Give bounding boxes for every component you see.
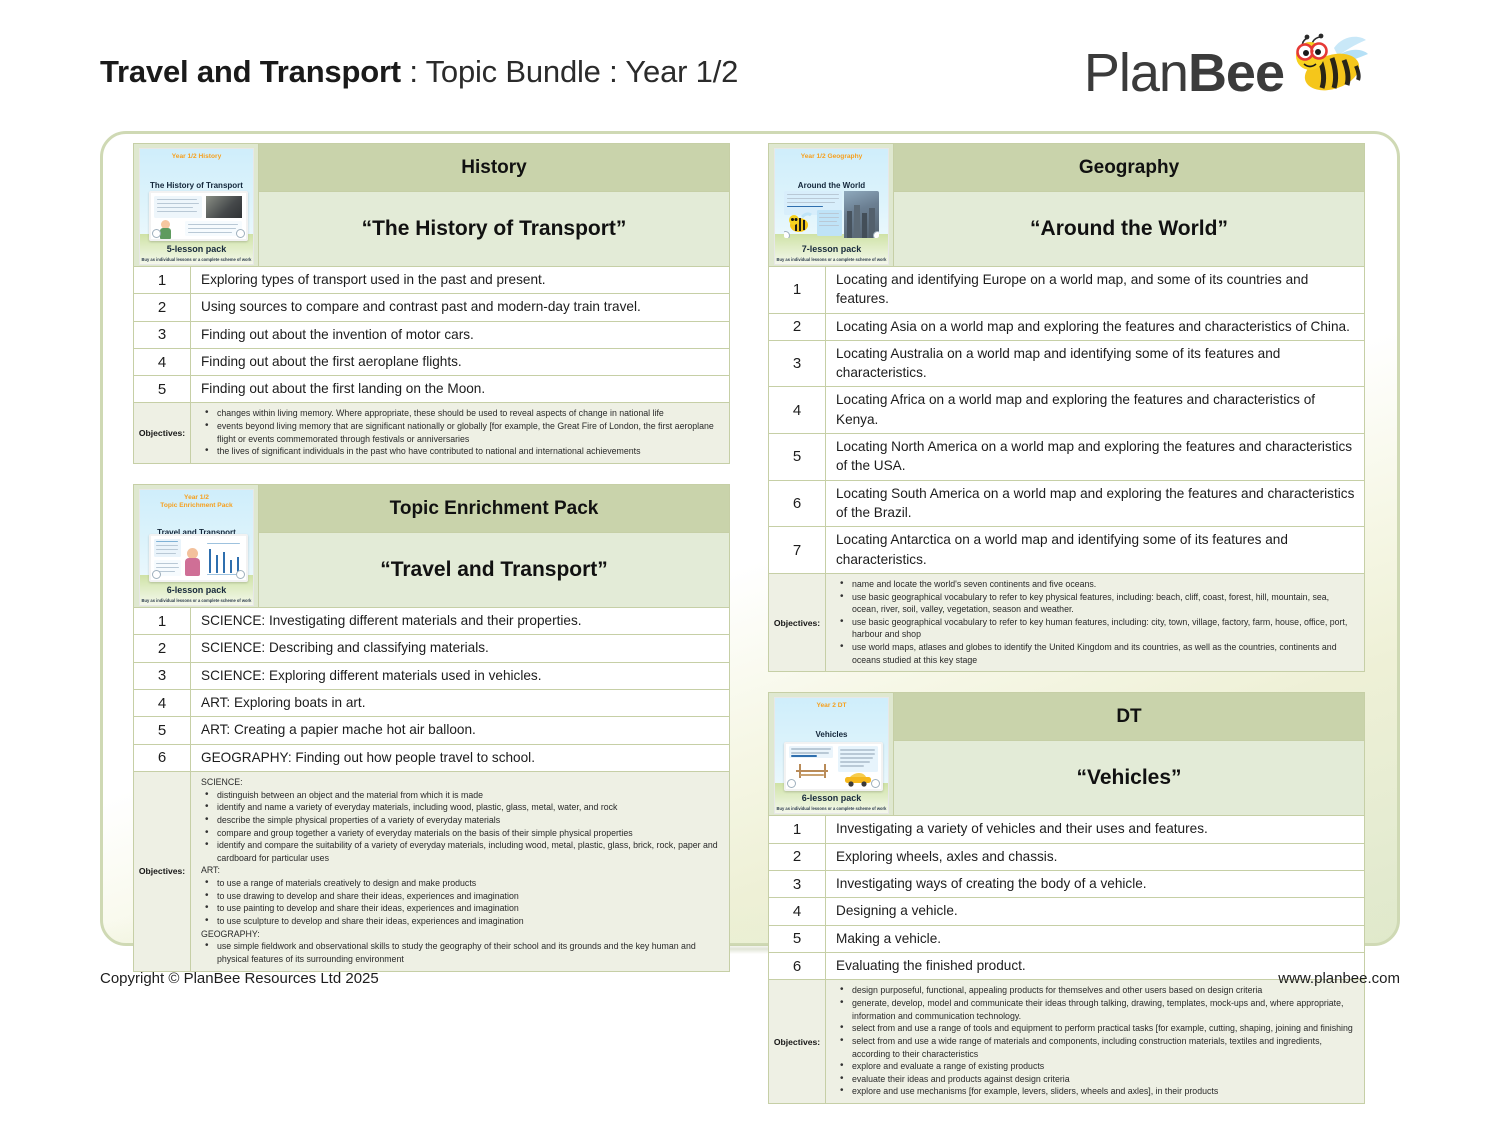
objectives-row-geography: Objectives:name and locate the world's s… [768,574,1365,673]
left-column: Year 1/2 History The History of Transpor… [133,143,730,992]
objective-item: to use painting to develop and share the… [215,902,720,915]
objective-item: identify and compare the suitability of … [215,839,720,864]
lesson-description: Finding out about the first aeroplane fl… [191,349,729,375]
lesson-number: 1 [134,267,191,293]
lesson-number: 4 [134,690,191,716]
objective-item: explore and use mechanisms [for example,… [850,1085,1355,1098]
thumbnail-year-label: Year 1/2 Geography [775,153,888,161]
thumb-slide-history [149,191,248,241]
pack-block-geography: Year 1/2 Geography Around the World [768,143,1365,672]
objective-item: use world maps, atlases and globes to id… [850,641,1355,666]
page-title-suffix: : Topic Bundle : Year 1/2 [401,54,738,89]
lesson-number: 4 [769,898,826,924]
car-icon [844,772,872,787]
lesson-number: 1 [769,267,826,313]
thumb-slide-geography [784,191,879,238]
objectives-label: Objectives: [769,574,826,672]
website-link[interactable]: www.planbee.com [1278,970,1400,987]
objectives-list: distinguish between an object and the ma… [201,789,720,865]
thumbnail-pack-count: 7-lesson pack [775,244,888,254]
lesson-description: Finding out about the invention of motor… [191,322,729,348]
thumbnail-cell[interactable]: Year 1/2Topic Enrichment Pack Travel and… [134,485,259,607]
thumbnail-cell[interactable]: Year 1/2 History The History of Transpor… [134,144,259,266]
lesson-row: 4Finding out about the first aeroplane f… [133,349,730,376]
objective-item: distinguish between an object and the ma… [215,789,720,802]
objectives-content: changes within living memory. Where appr… [191,403,729,463]
objectives-row-history: Objectives:changes within living memory.… [133,403,730,464]
lesson-number: 6 [134,745,191,771]
copyright-text: Copyright © PlanBee Resources Ltd 2025 [100,970,379,987]
unit-title-dt: “Vehicles” [894,740,1364,815]
thumbnail-unit-name: Around the World [775,181,888,190]
unit-title-history: “The History of Transport” [259,191,729,266]
objectives-list: to use a range of materials creatively t… [201,877,720,928]
bee-thumb-icon [786,211,814,237]
lesson-description: Locating Antarctica on a world map and i… [826,527,1364,573]
thumbnail-unit-name: Vehicles [775,730,888,739]
lesson-number: 5 [769,434,826,480]
objective-item: the lives of significant individuals in … [215,445,720,458]
logo-bee-text: Bee [1188,43,1284,103]
objective-item: identify and name a variety of everyday … [215,801,720,814]
lesson-description: ART: Exploring boats in art. [191,690,729,716]
lesson-description: ART: Creating a papier mache hot air bal… [191,717,729,743]
subject-label-topic-enrichment-pack: Topic Enrichment Pack [259,485,729,532]
lesson-number: 7 [769,527,826,573]
objectives-list: name and locate the world's seven contin… [836,578,1355,667]
thumbnail-cell[interactable]: Year 2 DT Vehicles [769,693,894,815]
thumbnail-pack-count: 6-lesson pack [140,585,253,595]
lesson-number: 3 [134,322,191,348]
lesson-row: 4Locating Africa on a world map and expl… [768,387,1365,434]
objectives-label: Objectives: [134,772,191,971]
lesson-row: 5Finding out about the first landing on … [133,376,730,403]
pack-block-dt: Year 2 DT Vehicles [768,692,1365,1104]
lesson-number: 4 [769,387,826,433]
objective-item: select from and use a range of tools and… [850,1022,1355,1035]
subject-label-dt: DT [894,693,1364,740]
objective-item: compare and group together a variety of … [215,827,720,840]
lesson-description: Locating Africa on a world map and explo… [826,387,1364,433]
objective-item: to use drawing to develop and share thei… [215,890,720,903]
page-header: Travel and Transport : Topic Bundle : Ye… [0,0,1500,130]
lesson-row: 1Locating and identifying Europe on a wo… [768,267,1365,314]
lesson-row: 5Locating North America on a world map a… [768,434,1365,481]
lesson-number: 3 [769,341,826,387]
objectives-group-heading: GEOGRAPHY: [201,928,720,941]
lesson-description: Locating South America on a world map an… [826,481,1364,527]
lesson-row: 4ART: Exploring boats in art. [133,690,730,717]
lesson-description: Investigating ways of creating the body … [826,871,1364,897]
lesson-row: 1SCIENCE: Investigating different materi… [133,608,730,635]
lesson-number: 3 [769,871,826,897]
objective-item: explore and evaluate a range of existing… [850,1060,1355,1073]
lesson-row: 2Exploring wheels, axles and chassis. [768,844,1365,871]
lesson-number: 1 [769,816,826,842]
thumbnail-unit-name: The History of Transport [140,181,253,190]
lesson-description: Finding out about the first landing on t… [191,376,729,402]
thumbnail-buy-note: Buy as individual lessons or a complete … [775,806,888,811]
lesson-row: 3SCIENCE: Exploring different materials … [133,663,730,690]
lesson-description: Investigating a variety of vehicles and … [826,816,1364,842]
thumbnail-buy-note: Buy as individual lessons or a complete … [140,598,253,603]
objectives-content: SCIENCE:distinguish between an object an… [191,772,729,971]
pack-thumbnail-geography[interactable]: Year 1/2 Geography Around the World [774,148,889,265]
thumbnail-year-label: Year 2 DT [775,702,888,710]
bee-icon [1276,32,1372,108]
objective-item: to use a range of materials creatively t… [215,877,720,890]
objectives-label: Objectives: [134,403,191,463]
objectives-group-heading: SCIENCE: [201,776,720,789]
pack-header-topic-enrichment-pack: Year 1/2Topic Enrichment Pack Travel and… [133,484,730,608]
subject-label-geography: Geography [894,144,1364,191]
lesson-description: Locating North America on a world map an… [826,434,1364,480]
lesson-description: Making a vehicle. [826,926,1364,952]
lesson-row: 3Locating Australia on a world map and i… [768,341,1365,388]
pack-header-geography: Year 1/2 Geography Around the World [768,143,1365,267]
logo-plan-text: Plan [1084,43,1188,103]
planbee-logo-text: PlanBee [1084,46,1284,100]
lesson-row: 2SCIENCE: Describing and classifying mat… [133,635,730,662]
lesson-number: 4 [134,349,191,375]
unit-title-geography: “Around the World” [894,191,1364,266]
lesson-description: SCIENCE: Investigating different materia… [191,608,729,634]
pack-header-history: Year 1/2 History The History of Transpor… [133,143,730,267]
lesson-row: 3Finding out about the invention of moto… [133,322,730,349]
pack-thumbnail-dt[interactable]: Year 2 DT Vehicles [774,697,889,814]
lesson-row: 2Locating Asia on a world map and explor… [768,314,1365,341]
pack-header-dt: Year 2 DT Vehicles [768,692,1365,816]
lesson-description: Using sources to compare and contrast pa… [191,294,729,320]
lesson-row: 4Designing a vehicle. [768,898,1365,925]
thumb-slide-enrichment [149,534,248,582]
lesson-description: GEOGRAPHY: Finding out how people travel… [191,745,729,771]
lesson-row: 2Using sources to compare and contrast p… [133,294,730,321]
lesson-number: 2 [769,314,826,340]
thumbnail-buy-note: Buy as individual lessons or a complete … [140,257,253,262]
unit-title-topic-enrichment-pack: “Travel and Transport” [259,532,729,607]
lesson-description: Locating and identifying Europe on a wor… [826,267,1364,313]
lesson-number: 1 [134,608,191,634]
lesson-number: 3 [134,663,191,689]
lesson-row: 1Investigating a variety of vehicles and… [768,816,1365,843]
objective-item: use basic geographical vocabulary to ref… [850,591,1355,616]
objective-item: changes within living memory. Where appr… [215,407,720,420]
objectives-content: name and locate the world's seven contin… [826,574,1364,672]
pack-block-topic-enrichment-pack: Year 1/2Topic Enrichment Pack Travel and… [133,484,730,972]
lesson-number: 5 [134,717,191,743]
objective-item: events beyond living memory that are sig… [215,420,720,445]
planbee-logo: PlanBee [1092,46,1402,132]
objectives-list: changes within living memory. Where appr… [201,407,720,458]
thumbnail-pack-count: 5-lesson pack [140,244,253,254]
objective-item: name and locate the world's seven contin… [850,578,1355,591]
thumbnail-year-label: Year 1/2Topic Enrichment Pack [140,494,253,510]
thumbnail-buy-note: Buy as individual lessons or a complete … [775,257,888,262]
objectives-row-topic-enrichment-pack: Objectives:SCIENCE:distinguish between a… [133,772,730,972]
objectives-group-heading: ART: [201,864,720,877]
lesson-description: Locating Asia on a world map and explori… [826,314,1364,340]
pack-block-history: Year 1/2 History The History of Transpor… [133,143,730,464]
objective-item: use basic geographical vocabulary to ref… [850,616,1355,641]
lesson-description: Exploring wheels, axles and chassis. [826,844,1364,870]
pack-thumbnail-topic-enrichment-pack[interactable]: Year 1/2Topic Enrichment Pack Travel and… [139,489,254,606]
subject-label-history: History [259,144,729,191]
lesson-description: SCIENCE: Exploring different materials u… [191,663,729,689]
lesson-row: 5Making a vehicle. [768,926,1365,953]
lesson-description: Exploring types of transport used in the… [191,267,729,293]
lesson-row: 7Locating Antarctica on a world map and … [768,527,1365,574]
page-title: Travel and Transport : Topic Bundle : Ye… [100,54,738,90]
thumbnail-year-label: Year 1/2 History [140,153,253,161]
lesson-description: Locating Australia on a world map and id… [826,341,1364,387]
objective-item: select from and use a wide range of mate… [850,1035,1355,1060]
lesson-number: 5 [769,926,826,952]
lesson-number: 5 [134,376,191,402]
objective-item: describe the simple physical properties … [215,814,720,827]
thumbnail-cell[interactable]: Year 1/2 Geography Around the World [769,144,894,266]
lesson-row: 1Exploring types of transport used in th… [133,267,730,294]
lesson-row: 6Locating South America on a world map a… [768,481,1365,528]
thumbnail-pack-count: 6-lesson pack [775,793,888,803]
lesson-description: Designing a vehicle. [826,898,1364,924]
page-footer: Copyright © PlanBee Resources Ltd 2025 w… [0,958,1500,1018]
lesson-number: 6 [769,481,826,527]
lesson-row: 6GEOGRAPHY: Finding out how people trave… [133,745,730,772]
lesson-number: 2 [134,635,191,661]
thumb-slide-dt [784,742,883,791]
objective-item: evaluate their ideas and products agains… [850,1073,1355,1086]
pack-thumbnail-history[interactable]: Year 1/2 History The History of Transpor… [139,148,254,265]
lesson-description: SCIENCE: Describing and classifying mate… [191,635,729,661]
lesson-number: 2 [134,294,191,320]
lesson-row: 3Investigating ways of creating the body… [768,871,1365,898]
objective-item: to use sculpture to develop and share th… [215,915,720,928]
lesson-row: 5ART: Creating a papier mache hot air ba… [133,717,730,744]
lesson-number: 2 [769,844,826,870]
page-title-topic: Travel and Transport [100,54,401,89]
